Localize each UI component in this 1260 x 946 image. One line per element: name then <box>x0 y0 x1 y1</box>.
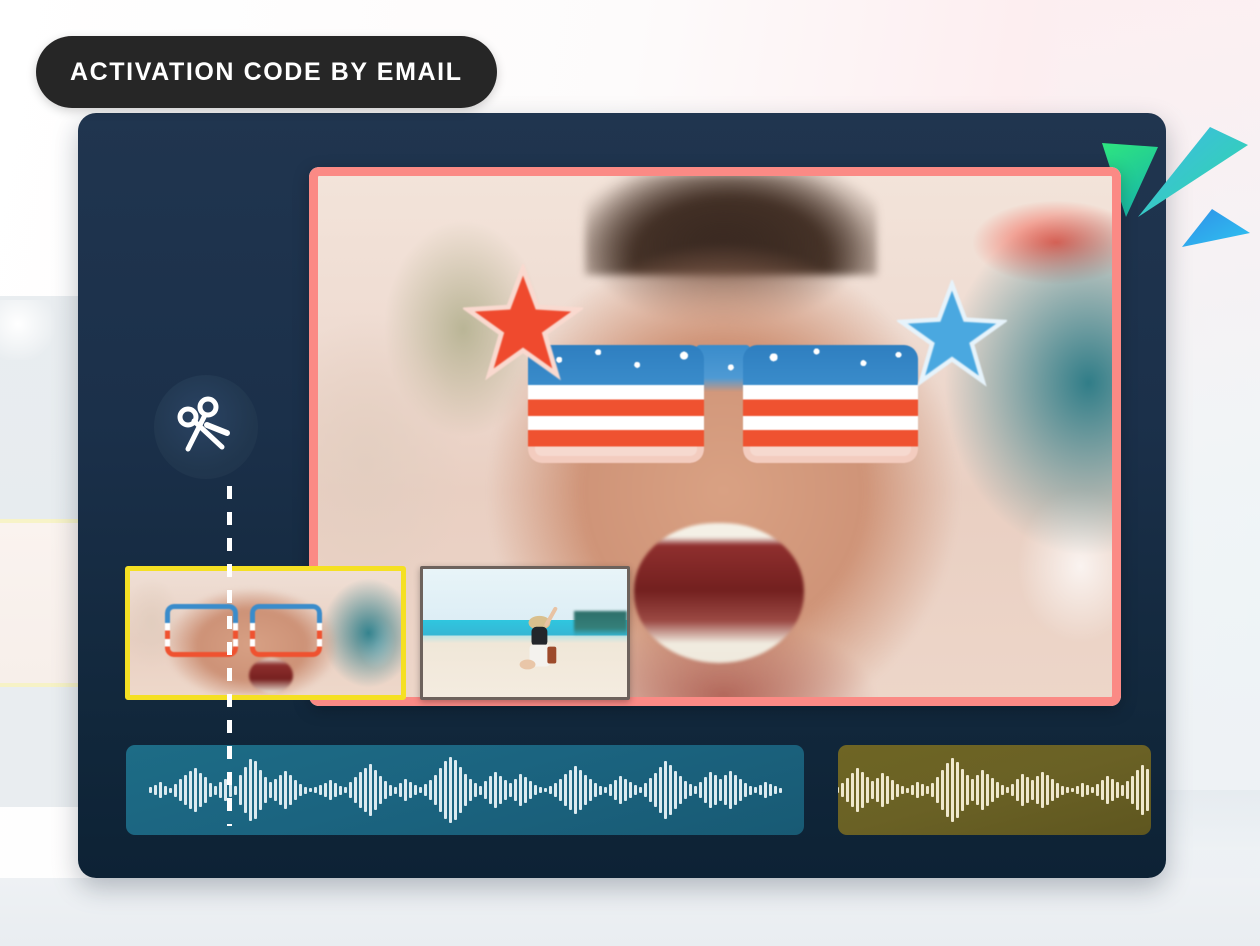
waveform-bar <box>314 787 317 793</box>
red-star-decoration <box>463 264 583 384</box>
waveform-bar <box>719 779 722 801</box>
waveform-bar <box>389 785 392 796</box>
playhead[interactable] <box>227 486 232 826</box>
waveform-bar <box>1101 780 1104 800</box>
waveform-bar <box>669 765 672 815</box>
waveform-bar <box>876 778 879 802</box>
waveform-bar <box>289 775 292 805</box>
scissors-icon <box>174 395 238 459</box>
waveform-bar <box>214 786 217 795</box>
waveform-bar <box>479 786 482 795</box>
waveform-bar <box>294 780 297 800</box>
waveform-bar <box>1041 772 1044 808</box>
waveform-bar <box>209 783 212 797</box>
waveform-bar <box>469 779 472 801</box>
waveform-bar <box>319 785 322 795</box>
waveform-bar <box>334 783 337 797</box>
waveform-bar <box>409 782 412 798</box>
waveform-bar <box>896 784 899 797</box>
waveform-bar <box>946 763 949 817</box>
waveform-bar <box>184 775 187 805</box>
waveform-bar <box>941 770 944 810</box>
waveform-bar <box>1001 785 1004 795</box>
waveform-bar <box>659 767 662 813</box>
waveform-bar <box>599 786 602 795</box>
waveform-bar <box>1136 770 1139 810</box>
waveform-bar <box>724 775 727 805</box>
waveform-bar <box>1011 784 1014 796</box>
waveform-bar <box>369 764 372 816</box>
waveform-bar <box>339 786 342 795</box>
waveform-bar <box>524 777 527 803</box>
waveform-bar <box>1126 781 1129 799</box>
waveform-bar <box>866 777 869 803</box>
waveform-bar <box>1121 785 1124 796</box>
waveform-bar <box>1016 779 1019 801</box>
waveform-bar <box>329 780 332 800</box>
waveform-bar <box>966 775 969 805</box>
waveform-bar <box>504 780 507 800</box>
timeline-clip-1[interactable] <box>125 566 406 700</box>
waveform-bar <box>1021 774 1024 806</box>
waveform-bar <box>204 777 207 803</box>
waveform-bar <box>539 787 542 793</box>
waveform-bar <box>199 773 202 807</box>
waveform-bar <box>619 776 622 804</box>
subject-mouth <box>634 523 805 663</box>
waveform-bar <box>584 775 587 805</box>
waveform-bar <box>846 778 849 802</box>
waveform-bar <box>219 782 222 798</box>
waveform-bar <box>269 782 272 798</box>
waveform-bar <box>449 757 452 823</box>
waveform-bar <box>494 772 497 808</box>
decorative-shards <box>1120 125 1260 255</box>
waveform-bar <box>1131 776 1134 804</box>
waveform-bar <box>679 776 682 804</box>
waveform-bar <box>729 771 732 809</box>
waveform-bar <box>1071 788 1074 792</box>
waveform-bar <box>916 782 919 798</box>
waveform-bar <box>1056 783 1059 798</box>
waveform-bar <box>499 776 502 804</box>
waveform-bar <box>299 784 302 796</box>
waveform-bar <box>886 776 889 804</box>
waveform-bar <box>1076 786 1079 794</box>
waveform-bar <box>981 770 984 810</box>
waveform-bar <box>926 786 929 794</box>
waveform-bar <box>1081 783 1084 797</box>
waveform-bar <box>936 777 939 803</box>
waveform-bar <box>594 783 597 797</box>
waveform-bar <box>194 768 197 812</box>
audio-track-2-waveform <box>838 745 1151 835</box>
activation-badge-label: ACTIVATION CODE BY EMAIL <box>70 58 463 87</box>
flag-sunglasses <box>528 345 918 464</box>
waveform-bar <box>1106 776 1109 804</box>
waveform-bar <box>549 786 552 794</box>
waveform-bar <box>654 773 657 807</box>
waveform-bar <box>474 783 477 797</box>
waveform-bar <box>514 779 517 801</box>
waveform-bar <box>694 786 697 794</box>
waveform-bar <box>991 778 994 802</box>
waveform-bar <box>1061 786 1064 795</box>
waveform-bar <box>699 782 702 798</box>
waveform-bar <box>574 766 577 814</box>
audio-track-1-waveform <box>149 745 782 835</box>
waveform-bar <box>439 768 442 812</box>
waveform-bar <box>424 784 427 796</box>
waveform-bar <box>861 772 864 808</box>
waveform-bar <box>309 788 312 792</box>
waveform-bar <box>364 768 367 812</box>
waveform-bar <box>838 787 839 793</box>
waveform-bar <box>774 786 777 794</box>
waveform-bar <box>709 772 712 808</box>
waveform-bar <box>464 774 467 806</box>
waveform-bar <box>384 781 387 799</box>
waveform-bar <box>359 772 362 808</box>
waveform-bar <box>1146 769 1149 811</box>
timeline-clip-2[interactable] <box>420 566 630 700</box>
waveform-bar <box>159 782 162 798</box>
waveform-bar <box>519 774 522 806</box>
waveform-bar <box>759 785 762 795</box>
waveform-bar <box>921 784 924 796</box>
waveform-bar <box>609 784 612 796</box>
waveform-bar <box>489 776 492 804</box>
waveform-bar <box>189 771 192 809</box>
blue-star-decoration <box>897 280 1007 390</box>
clip-1-lens-right <box>250 604 322 656</box>
timeline-clip-1-thumbnail <box>130 571 401 695</box>
waveform-bar <box>579 770 582 810</box>
shard-blue-triangle <box>1182 209 1250 247</box>
waveform-bar <box>1091 787 1094 793</box>
waveform-bar <box>1006 787 1009 793</box>
waveform-bar <box>714 775 717 805</box>
waveform-bar <box>644 783 647 797</box>
waveform-bar <box>1046 775 1049 805</box>
waveform-bar <box>996 782 999 798</box>
waveform-bar <box>1031 780 1034 800</box>
waveform-bar <box>274 779 277 801</box>
waveform-bar <box>509 783 512 797</box>
clip-1-mouth <box>249 658 292 693</box>
waveform-bar <box>484 781 487 799</box>
waveform-bar <box>1066 787 1069 793</box>
screenshot-root: ACTIVATION CODE BY EMAIL <box>0 0 1260 946</box>
waveform-bar <box>604 787 607 793</box>
waveform-bar <box>614 780 617 800</box>
waveform-bar <box>254 761 257 819</box>
waveform-bar <box>374 770 377 810</box>
waveform-bar <box>639 787 642 793</box>
background-bottom <box>0 878 1260 946</box>
waveform-bar <box>674 771 677 809</box>
activation-badge: ACTIVATION CODE BY EMAIL <box>36 36 497 108</box>
waveform-bar <box>1086 785 1089 795</box>
waveform-bar <box>911 785 914 795</box>
waveform-bar <box>901 786 904 794</box>
cut-tool-button[interactable] <box>154 375 258 479</box>
waveform-bar <box>349 782 352 798</box>
audio-track-2[interactable] <box>838 745 1151 835</box>
waveform-bar <box>404 779 407 801</box>
waveform-bar <box>749 786 752 795</box>
waveform-bar <box>304 787 307 794</box>
waveform-bar <box>354 777 357 803</box>
waveform-bar <box>956 762 959 818</box>
waveform-bar <box>871 781 874 799</box>
waveform-bar <box>734 775 737 805</box>
waveform-bar <box>429 780 432 800</box>
waveform-bar <box>779 788 782 793</box>
waveform-bar <box>444 761 447 819</box>
sunglasses-lens-right <box>743 345 918 464</box>
timeline-clip-2-thumbnail <box>423 569 627 697</box>
waveform-bar <box>1026 777 1029 803</box>
waveform-bar <box>1036 776 1039 804</box>
waveform-bar <box>1151 774 1152 806</box>
waveform-bar <box>529 781 532 799</box>
waveform-bar <box>906 788 909 793</box>
waveform-bar <box>881 773 884 807</box>
waveform-bar <box>279 775 282 805</box>
waveform-bar <box>951 758 954 822</box>
waveform-bar <box>589 779 592 801</box>
waveform-bar <box>324 783 327 797</box>
waveform-bar <box>174 784 177 797</box>
waveform-bar <box>564 774 567 806</box>
waveform-bar <box>689 784 692 796</box>
waveform-bar <box>1141 765 1144 815</box>
waveform-bar <box>379 776 382 804</box>
waveform-bar <box>851 773 854 807</box>
clip-1-sunglasses <box>165 604 322 656</box>
waveform-bar <box>259 770 262 810</box>
waveform-bar <box>559 779 562 801</box>
waveform-bar <box>544 788 547 792</box>
waveform-bar <box>1096 784 1099 796</box>
waveform-bar <box>414 785 417 795</box>
waveform-bar <box>649 778 652 802</box>
waveform-bar <box>1111 779 1114 801</box>
waveform-bar <box>569 770 572 810</box>
waveform-bar <box>704 777 707 803</box>
waveform-bar <box>744 783 747 797</box>
waveform-bar <box>754 787 757 793</box>
waveform-bar <box>971 779 974 801</box>
waveform-bar <box>856 768 859 812</box>
clip-2-treeline <box>574 611 627 635</box>
waveform-bar <box>249 759 252 821</box>
waveform-bar <box>244 767 247 813</box>
waveform-bar <box>664 761 667 819</box>
waveform-bar <box>764 782 767 798</box>
waveform-bar <box>149 787 152 793</box>
waveform-bar <box>986 774 989 806</box>
waveform-bar <box>629 782 632 798</box>
waveform-bar <box>739 779 742 801</box>
waveform-bar <box>634 785 637 795</box>
waveform-bar <box>459 767 462 813</box>
waveform-bar <box>624 779 627 801</box>
clip-2-person <box>517 597 562 676</box>
waveform-bar <box>434 775 437 805</box>
waveform-bar <box>534 785 537 795</box>
waveform-bar <box>684 781 687 799</box>
waveform-bar <box>239 775 242 805</box>
waveform-bar <box>399 783 402 797</box>
shard-teal-triangle <box>1138 127 1248 217</box>
waveform-bar <box>769 784 772 796</box>
waveform-bar <box>976 775 979 805</box>
waveform-bar <box>931 783 934 797</box>
waveform-bar <box>234 786 237 795</box>
waveform-bar <box>1116 782 1119 798</box>
waveform-bar <box>891 780 894 800</box>
waveform-bar <box>179 779 182 801</box>
waveform-bar <box>164 786 167 795</box>
waveform-bar <box>344 787 347 793</box>
waveform-bar <box>419 787 422 793</box>
waveform-bar <box>961 769 964 811</box>
waveform-bar <box>1051 779 1054 801</box>
waveform-bar <box>394 787 397 794</box>
waveform-bar <box>841 783 844 797</box>
waveform-bar <box>284 771 287 809</box>
waveform-bar <box>169 788 172 793</box>
waveform-bar <box>454 760 457 820</box>
waveform-bar <box>264 777 267 803</box>
waveform-bar <box>154 785 157 795</box>
background-wisp <box>0 300 60 360</box>
waveform-bar <box>554 783 557 797</box>
